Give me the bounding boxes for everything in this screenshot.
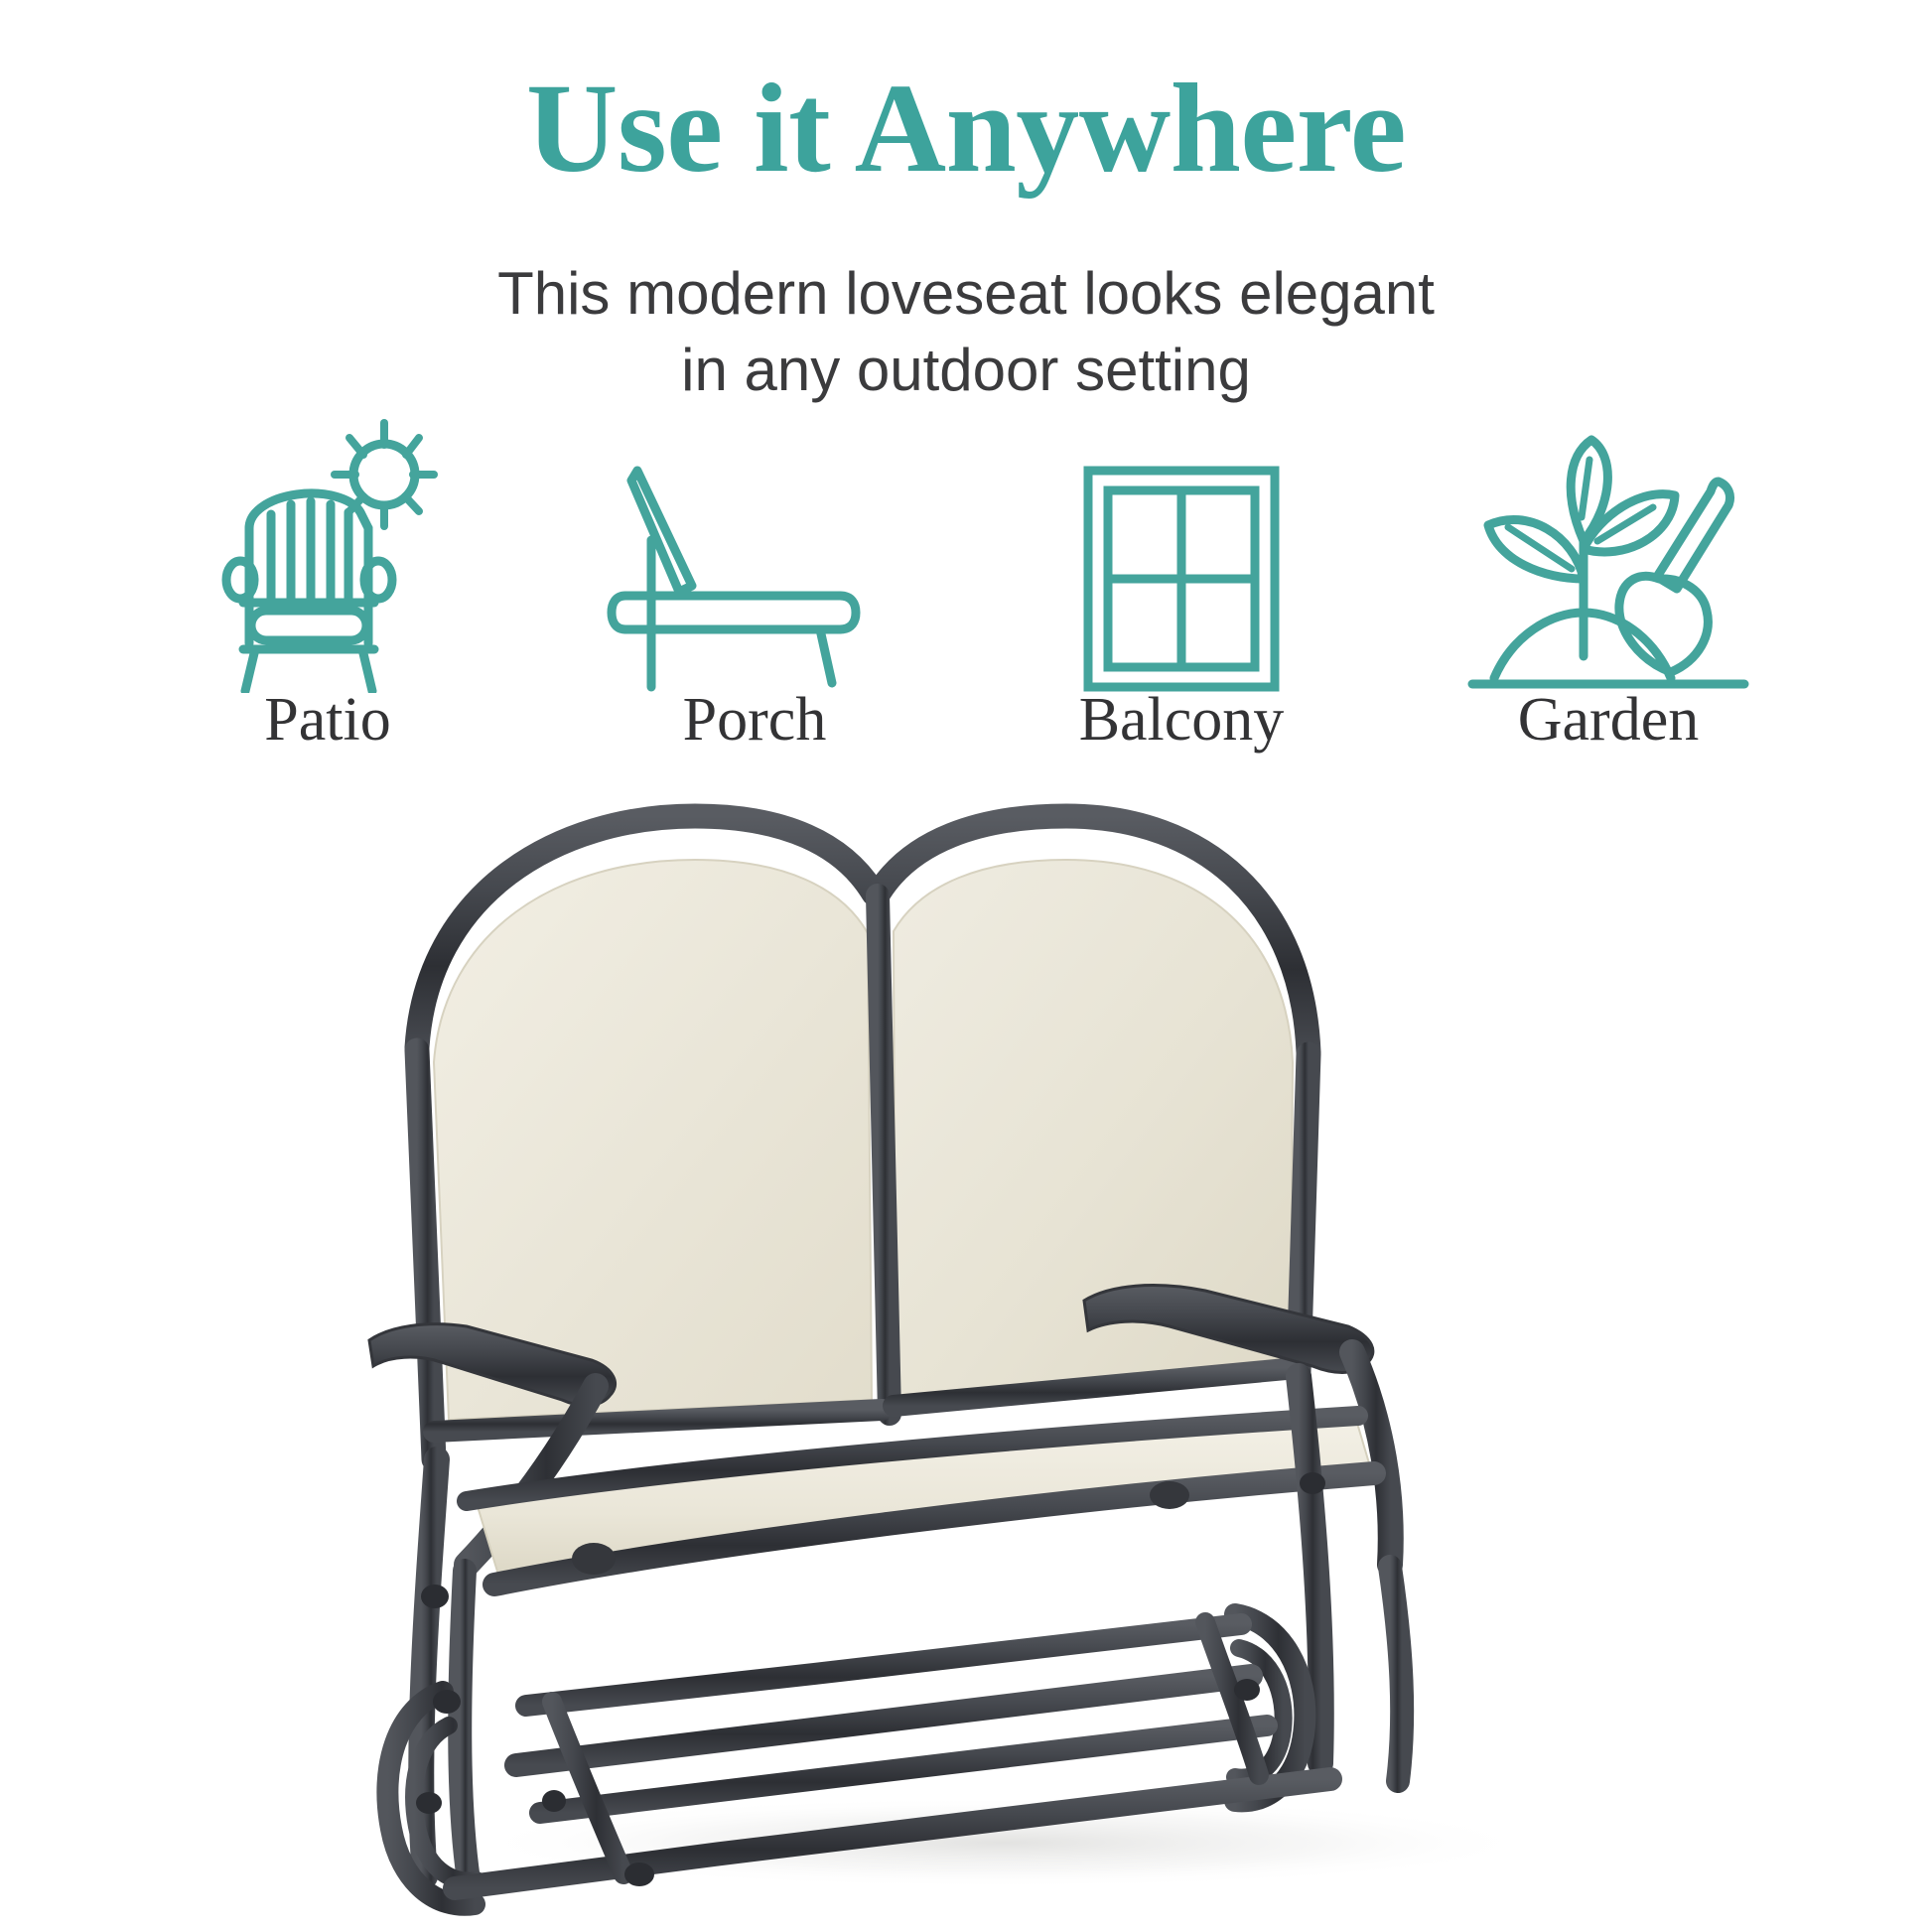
page-title: Use it Anywhere [0,62,1932,195]
feature-icon-row [149,405,1787,693]
plant-shovel-icon [1464,430,1752,693]
feature-item-garden [1430,405,1787,693]
window-pane-icon [1082,465,1281,693]
feature-label-garden: Garden [1430,689,1787,751]
seat-pivot-knob-mid [1150,1481,1189,1509]
feature-item-patio [149,405,506,693]
marketing-infographic-page: Use it Anywhere This modern loveseat loo… [0,0,1932,1932]
seat-pivot-knob-left [572,1543,616,1575]
backrest-post-left [417,1050,434,1459]
feature-label-patio: Patio [149,689,506,751]
subtitle-line-1: This modern loveseat looks elegant [497,260,1435,327]
product-image-outdoor-glider-loveseat [0,764,1932,1932]
adirondack-chair-sun-icon [213,405,442,693]
subtitle-line-2: in any outdoor setting [0,333,1932,409]
feature-label-balcony: Balcony [1003,689,1360,751]
backrest-post-center [878,896,890,1414]
feature-item-balcony [1003,405,1360,693]
lounge-chair-icon [606,445,903,693]
leg-front-right [1390,1567,1402,1781]
feature-label-row: Patio Porch Balcony Garden [149,689,1787,751]
leg-front-left [460,1571,469,1880]
feature-label-porch: Porch [576,689,933,751]
feature-item-porch [576,405,933,693]
page-subtitle: This modern loveseat looks elegant in an… [0,256,1932,409]
